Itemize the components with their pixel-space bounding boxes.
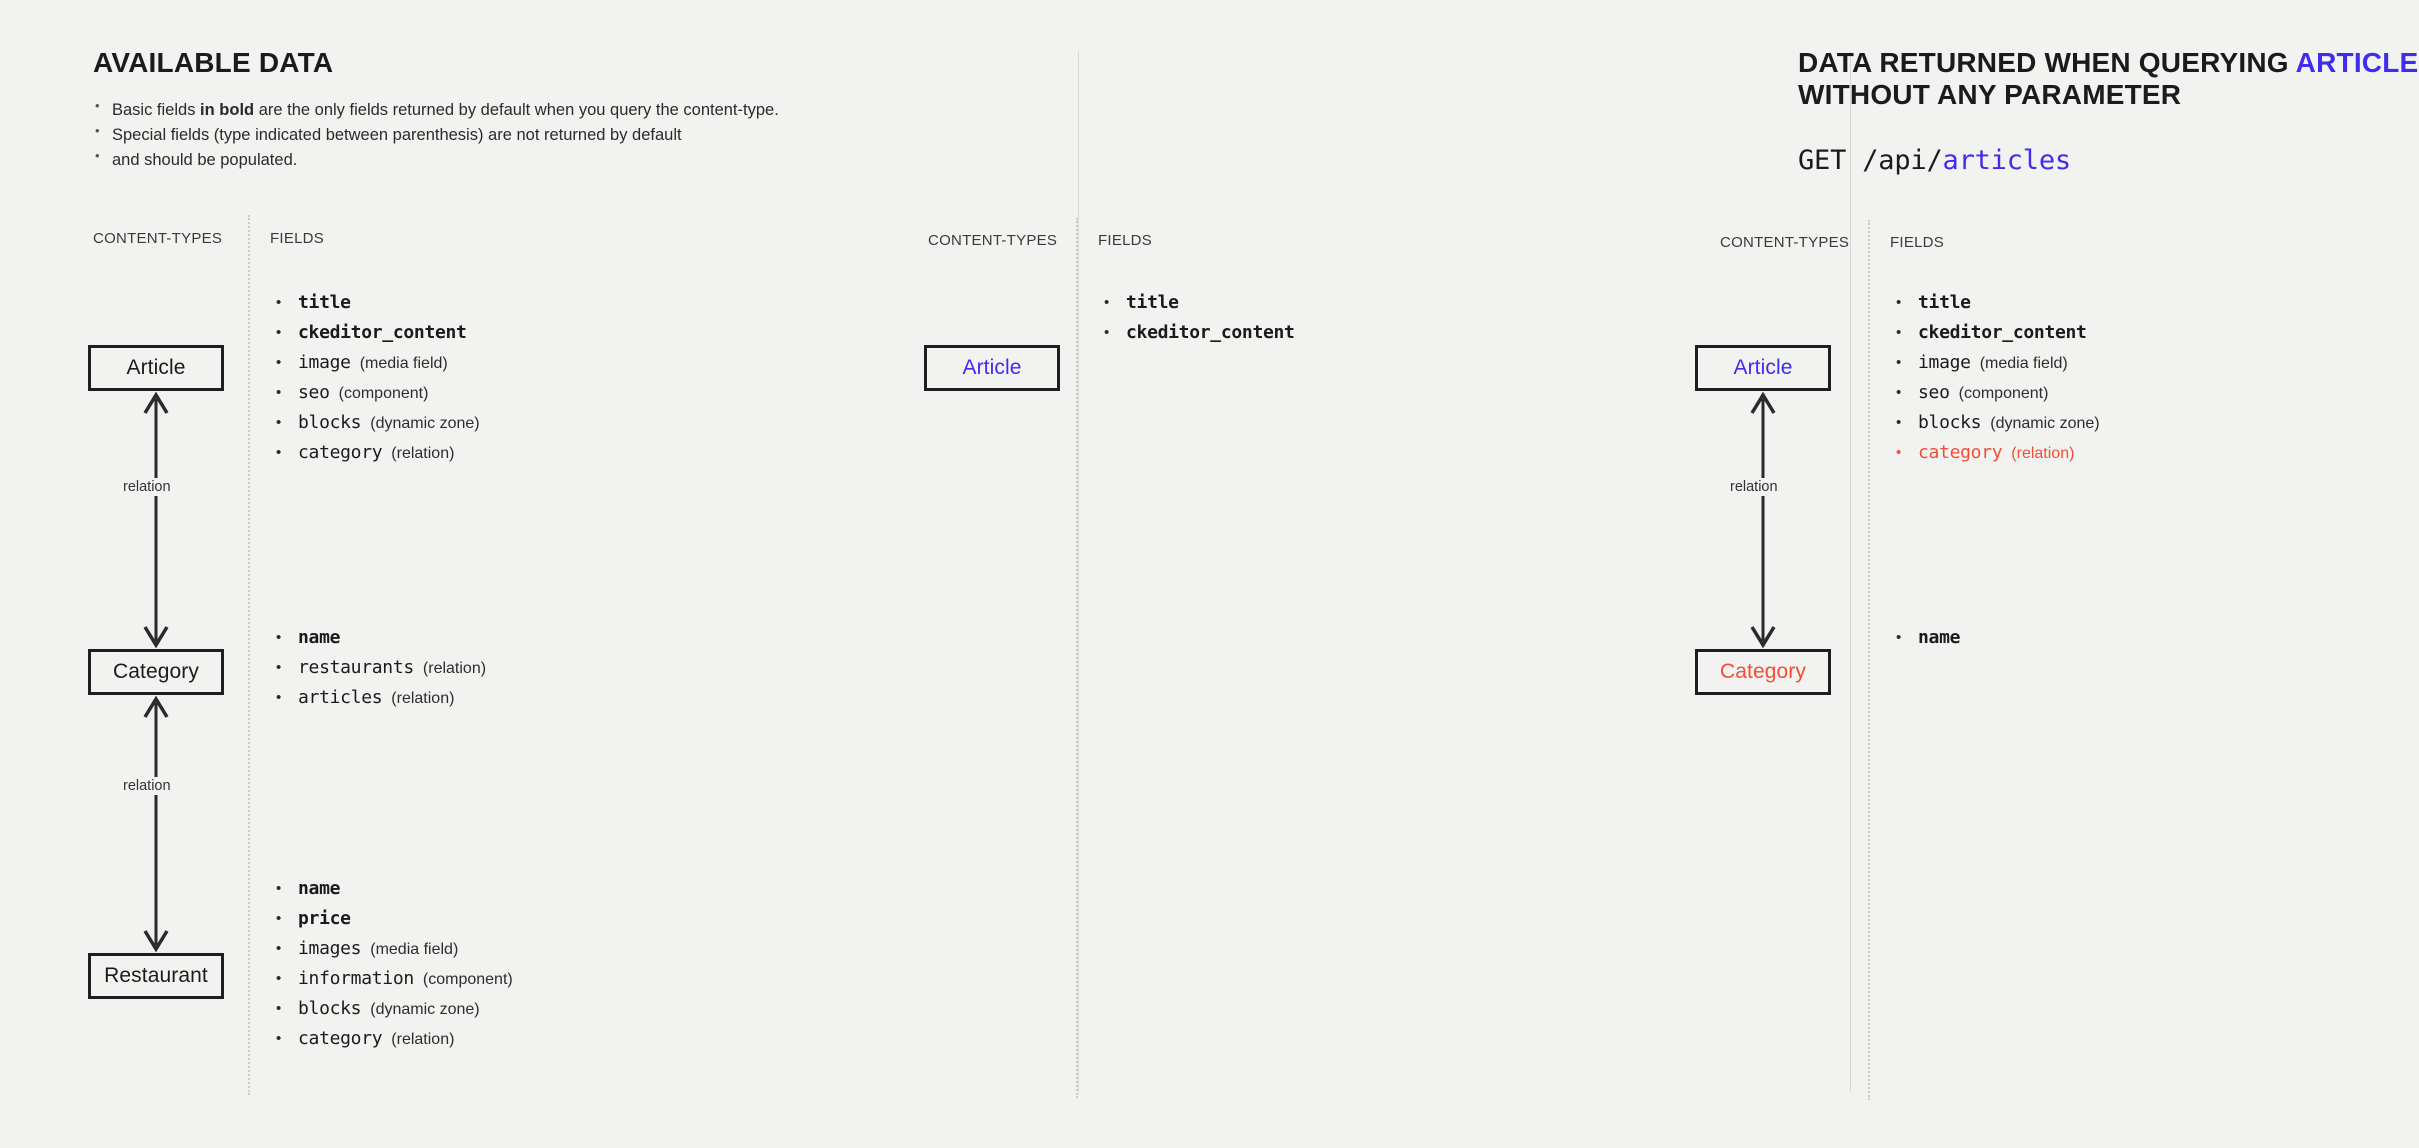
fieldlist-category-3: name [1892,623,1969,653]
field-row: information(component) [272,964,513,994]
legend-note-bold: in bold [200,101,254,119]
legend-note-pre: and should be populated. [112,151,297,169]
field-type: (media field) [1980,355,2068,372]
entity-label: Category [1720,660,1806,684]
field-name: image [298,352,351,373]
relation-label: relation [118,777,176,795]
field-name: category [298,442,382,463]
field-row: price [272,904,513,934]
field-name: title [1126,292,1179,313]
field-name: blocks [298,412,361,433]
field-name: seo [298,382,330,403]
field-name: category [298,1028,382,1049]
column-1-heading: AVAILABLE DATA [93,47,333,79]
field-row: ckeditor_content [1892,318,2100,348]
legend-note: Basic fields in bold are the only fields… [93,98,779,122]
inner-divider-1 [248,215,250,1095]
label-content-types-2: CONTENT-TYPES [928,232,1057,249]
label-fields-1: FIELDS [270,230,324,247]
legend-note-post: are the only fields returned by default … [254,101,779,119]
fieldlist-restaurant-1: name price images(media field) informati… [272,874,513,1054]
field-name: ckeditor_content [298,322,467,343]
field-name: articles [298,687,382,708]
label-fields-2: FIELDS [1098,232,1152,249]
label-fields-3: FIELDS [1890,234,1944,251]
field-name: ckeditor_content [1918,322,2087,343]
entity-label: Article [962,356,1021,380]
field-row: blocks(dynamic zone) [272,994,513,1024]
field-name: seo [1918,382,1950,403]
field-type: (component) [423,971,513,988]
field-name: image [1918,352,1971,373]
label-content-types-3: CONTENT-TYPES [1720,234,1849,251]
legend-notes: Basic fields in bold are the only fields… [93,98,779,173]
field-row: category(relation) [272,438,480,468]
field-type: (relation) [391,445,454,462]
field-row: images(media field) [272,934,513,964]
legend-note-continuation: and should be populated. [93,148,779,172]
field-name: category [1918,442,2002,463]
field-row: seo(component) [1892,378,2100,408]
entity-label: Restaurant [104,964,208,988]
entity-box-article[interactable]: Article [924,345,1060,391]
field-row: ckeditor_content [272,318,480,348]
field-row: restaurants(relation) [272,653,486,683]
legend-note: Special fields (type indicated between p… [93,123,779,147]
column-1-heading-text: AVAILABLE DATA [93,47,333,78]
entity-box-restaurant[interactable]: Restaurant [88,953,224,999]
legend-note-pre: Special fields (type indicated between p… [112,126,682,144]
field-row: image(media field) [272,348,480,378]
field-type: (dynamic zone) [370,1001,479,1018]
entity-label: Article [1733,356,1792,380]
field-row: title [272,288,480,318]
field-name: blocks [1918,412,1981,433]
field-row: articles(relation) [272,683,486,713]
field-type: (relation) [423,660,486,677]
entity-box-article[interactable]: Article [88,345,224,391]
fieldlist-category-1: name restaurants(relation) articles(rela… [272,623,486,713]
field-row: image(media field) [1892,348,2100,378]
field-type: (dynamic zone) [1990,415,2099,432]
inner-divider-2 [1076,218,1078,1098]
relation-arrow-restaurant-category [141,695,171,953]
entity-box-article[interactable]: Article [1695,345,1831,391]
field-row: blocks(dynamic zone) [272,408,480,438]
field-row: name [272,623,486,653]
field-type: (component) [1959,385,2049,402]
field-row: category(relation) [272,1024,513,1054]
field-name: information [298,968,414,989]
field-row: ckeditor_content [1100,318,1304,348]
field-type: (component) [339,385,429,402]
relation-label: relation [1725,478,1783,496]
field-row-highlighted: category(relation) [1892,438,2100,468]
relation-arrow-category-article [1748,391,1778,649]
field-name: title [298,292,351,313]
field-row: name [1892,623,1969,653]
fieldlist-article-2: title ckeditor_content [1100,288,1304,348]
field-name: images [298,938,361,959]
field-row: seo(component) [272,378,480,408]
field-name: title [1918,292,1971,313]
field-type: (media field) [370,941,458,958]
field-row: blocks(dynamic zone) [1892,408,2100,438]
field-name: name [1918,627,1960,648]
relation-arrow-category-article [141,391,171,649]
fieldlist-article-3: title ckeditor_content image(media field… [1892,288,2100,468]
column-available-data: AVAILABLE DATA Basic fields in bold are … [0,0,880,1148]
field-row: title [1892,288,2100,318]
field-row: title [1100,288,1304,318]
field-row: name [272,874,513,904]
diagram-canvas: AVAILABLE DATA Basic fields in bold are … [0,0,2419,1148]
entity-label: Article [126,356,185,380]
field-name: blocks [298,998,361,1019]
field-type: (relation) [391,1031,454,1048]
field-type: (relation) [391,690,454,707]
relation-label: relation [118,478,176,496]
field-type: (relation) [2011,445,2074,462]
column-query-no-parameter: DATA RETURNED WHEN QUERYING ARTICLES WIT… [880,0,1680,1148]
field-type: (dynamic zone) [370,415,479,432]
entity-box-category[interactable]: Category [1695,649,1831,695]
legend-note-pre: Basic fields [112,101,200,119]
field-name: restaurants [298,657,414,678]
fieldlist-article-1: title ckeditor_content image(media field… [272,288,480,468]
inner-divider-3 [1868,220,1870,1100]
entity-box-category[interactable]: Category [88,649,224,695]
label-content-types-1: CONTENT-TYPES [93,230,222,247]
field-name: name [298,878,340,899]
field-type: (media field) [360,355,448,372]
column-query-populate-all: DATA RETURNED WHEN QUERYING ARTICLES AND… [1680,0,2419,1148]
field-name: name [298,627,340,648]
field-name: ckeditor_content [1126,322,1295,343]
entity-label: Category [113,660,199,684]
field-name: price [298,908,351,929]
